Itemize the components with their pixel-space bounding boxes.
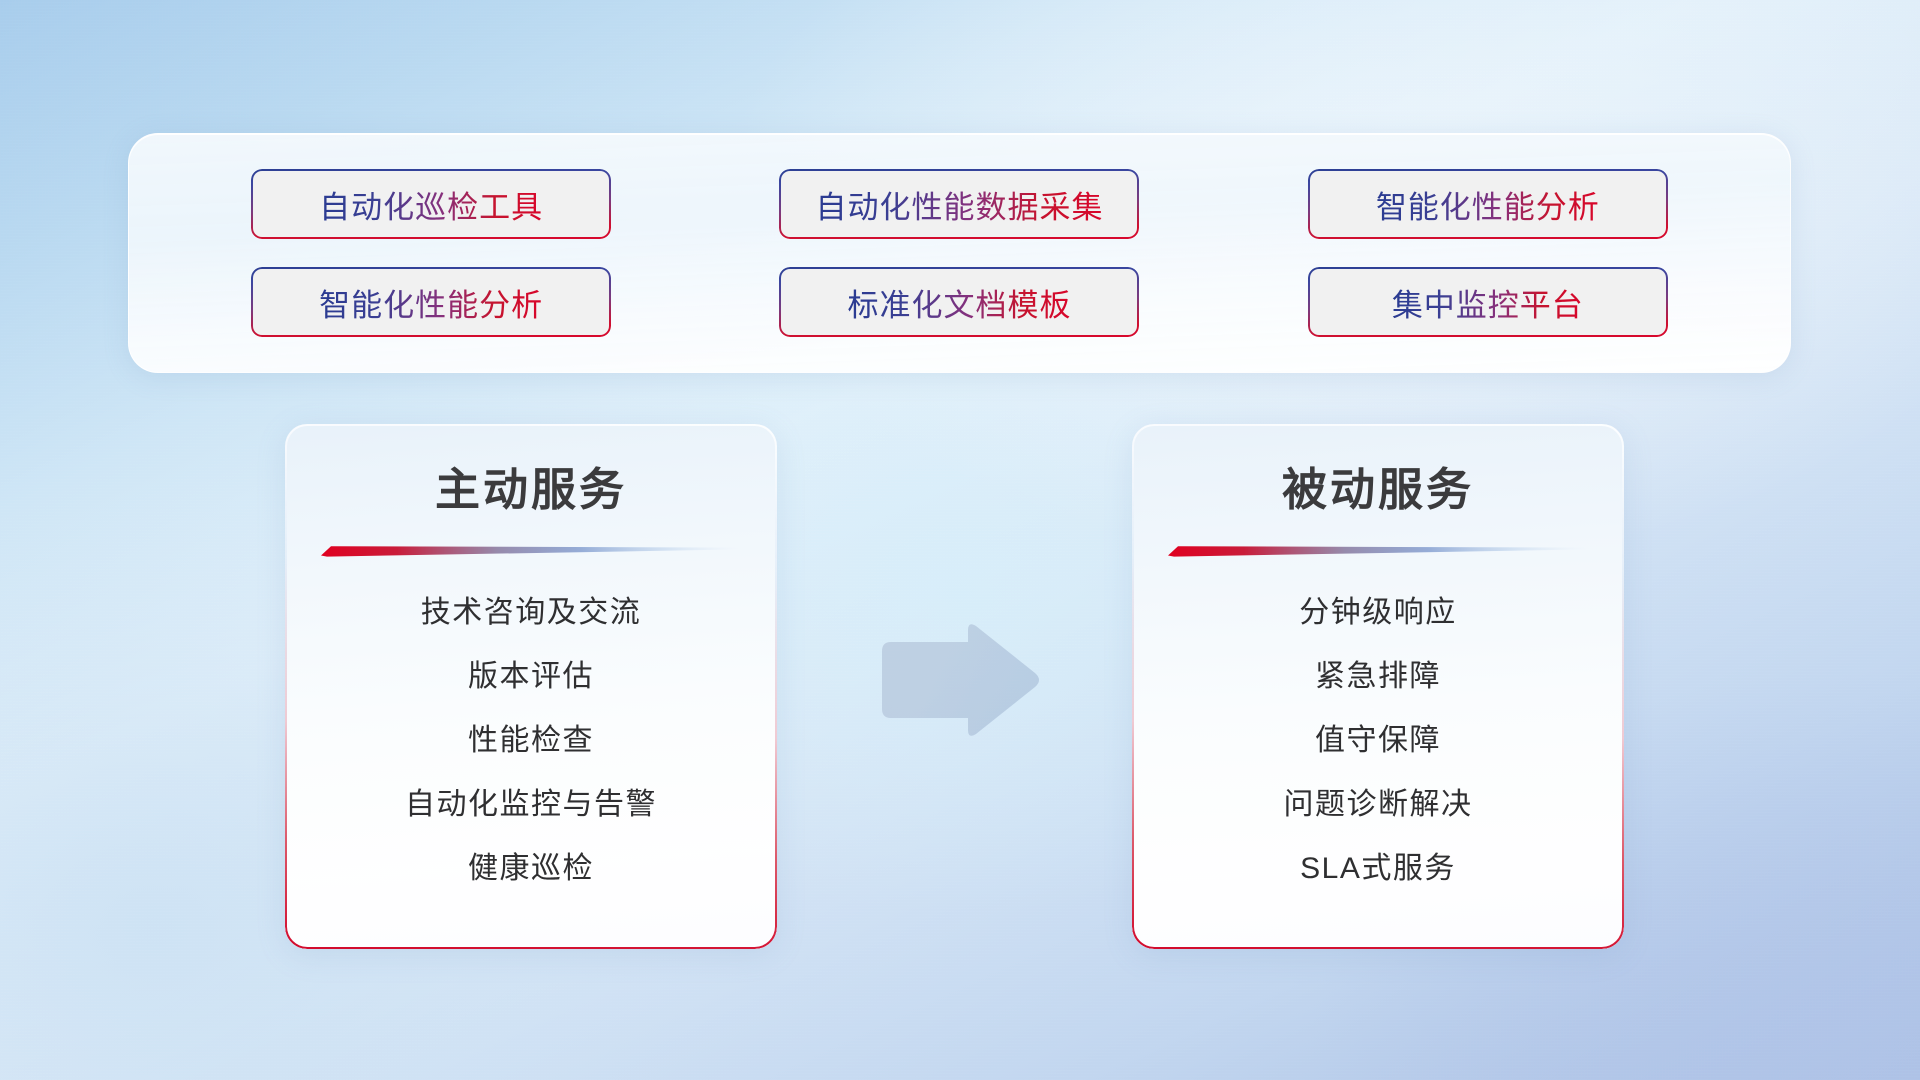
card-item-list-proactive: 技术咨询及交流 版本评估 性能检查 自动化监控与告警 健康巡检 [285,581,777,901]
list-item: 版本评估 [285,645,777,709]
card-title-proactive: 主动服务 [285,453,777,518]
arrow-right-icon [872,618,1042,743]
capability-column-3: 智能化性能分析 集中监控平台 [1308,169,1668,337]
pill-label: 自动化性能数据采集 [815,182,1103,227]
service-card-reactive: 被动服务 分钟级响应 紧急排障 值守保障 [1132,424,1624,949]
pill-label: 自动化巡检工具 [319,182,543,227]
infographic-stage: 自动化巡检工具 智能化性能分析 自动化性能数据采集 标准化文档模板 智能化性能分… [0,0,1920,1080]
capability-column-2: 自动化性能数据采集 标准化文档模板 [779,169,1139,337]
pill-label: 智能化性能分析 [1376,182,1600,227]
service-card-proactive: 主动服务 技术咨询及交流 版本评估 性能检查 [285,424,777,949]
list-item: 自动化监控与告警 [285,773,777,837]
capability-pill-centralized-monitoring-platform[interactable]: 集中监控平台 [1308,267,1668,337]
capability-pill-automation-inspection-tool[interactable]: 自动化巡检工具 [251,169,611,239]
card-divider-reactive [1168,543,1588,557]
list-item: 问题诊断解决 [1132,773,1624,837]
pill-label: 集中监控平台 [1392,280,1584,325]
list-item: 紧急排障 [1132,645,1624,709]
capability-pill-automated-performance-data-collection[interactable]: 自动化性能数据采集 [779,169,1139,239]
card-divider-proactive [321,543,741,557]
pill-label: 标准化文档模板 [847,280,1071,325]
list-item: 分钟级响应 [1132,581,1624,645]
card-item-list-reactive: 分钟级响应 紧急排障 值守保障 问题诊断解决 SLA式服务 [1132,581,1624,901]
pill-label: 智能化性能分析 [319,280,543,325]
capability-pill-standardized-document-template[interactable]: 标准化文档模板 [779,267,1139,337]
card-title-reactive: 被动服务 [1132,453,1624,518]
list-item: SLA式服务 [1132,837,1624,901]
list-item: 值守保障 [1132,709,1624,773]
capability-column-1: 自动化巡检工具 智能化性能分析 [251,169,611,337]
capability-panel: 自动化巡检工具 智能化性能分析 自动化性能数据采集 标准化文档模板 智能化性能分… [128,133,1791,373]
capability-pill-intelligent-performance-analysis-2[interactable]: 智能化性能分析 [1308,169,1668,239]
capability-pill-intelligent-performance-analysis-1[interactable]: 智能化性能分析 [251,267,611,337]
list-item: 健康巡检 [285,837,777,901]
list-item: 性能检查 [285,709,777,773]
list-item: 技术咨询及交流 [285,581,777,645]
